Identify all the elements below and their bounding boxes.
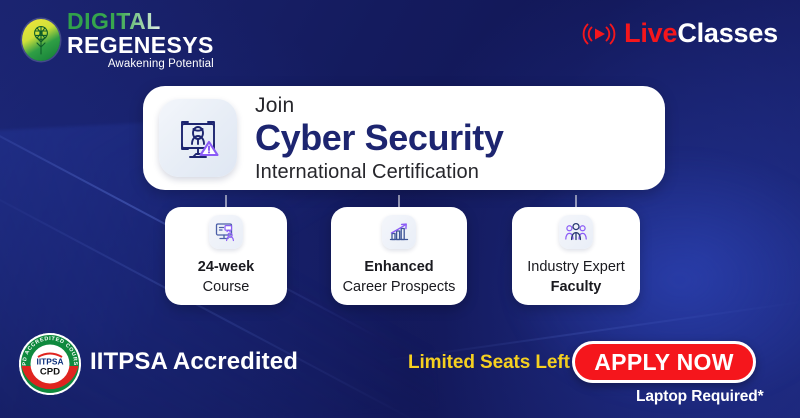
growth-bar-chart-icon — [382, 215, 416, 249]
cyber-security-monitor-icon — [159, 99, 237, 177]
feature-label-primary: Industry Expert — [527, 258, 625, 278]
promo-banner: DIGITAL REGENESYS Awakening Potential Li… — [0, 0, 800, 418]
svg-text:IITPSA: IITPSA — [37, 357, 64, 367]
live-broadcast-icon — [582, 21, 616, 47]
connector-nub — [225, 195, 227, 207]
hero-card: Join Cyber Security International Certif… — [143, 86, 665, 190]
hero-text-block: Join Cyber Security International Certif… — [255, 95, 504, 182]
feature-card-faculty: Industry Expert Faculty — [512, 207, 640, 305]
feature-label-secondary: Career Prospects — [343, 278, 456, 298]
feature-label-primary: 24-week — [198, 258, 254, 278]
feature-label-secondary: Course — [203, 278, 250, 298]
classes-word: Classes — [677, 18, 778, 48]
brand-line-1: DIGITAL — [67, 10, 214, 33]
connector-nub — [398, 195, 400, 207]
limited-seats-label: Limited Seats Left — [408, 352, 570, 374]
live-word: Live — [624, 18, 677, 48]
live-classes-badge[interactable]: LiveClasses — [582, 18, 778, 49]
accreditation-label: IITPSA Accredited — [90, 348, 298, 376]
brand-wordmark: DIGITAL REGENESYS Awakening Potential — [67, 10, 214, 71]
hero-eyebrow: Join — [255, 95, 504, 116]
feature-card-duration: 24-week Course — [165, 207, 287, 305]
apply-now-button[interactable]: APPLY NOW — [572, 341, 756, 383]
live-classes-label: LiveClasses — [624, 18, 778, 49]
hero-subtitle: International Certification — [255, 162, 504, 182]
brand-logo[interactable]: DIGITAL REGENESYS Awakening Potential — [22, 10, 214, 71]
connector-nub — [575, 195, 577, 207]
feature-label-primary: Enhanced — [364, 258, 433, 278]
iitpsa-cpd-accreditation-seal-icon: CPD ACCREDITED COURSE IITPSA IITPSA CPD — [18, 332, 82, 396]
laptop-required-note: Laptop Required* — [636, 388, 764, 406]
online-course-monitor-icon — [209, 215, 243, 249]
expert-faculty-group-icon — [559, 215, 593, 249]
brand-line-2: REGENESYS — [67, 34, 214, 57]
tree-circle-logo-icon — [22, 19, 60, 61]
hero-title: Cyber Security — [255, 120, 504, 156]
feature-card-career: Enhanced Career Prospects — [331, 207, 467, 305]
feature-label-secondary: Faculty — [551, 278, 602, 298]
svg-text:CPD: CPD — [40, 367, 60, 378]
brand-tagline: Awakening Potential — [67, 59, 214, 71]
